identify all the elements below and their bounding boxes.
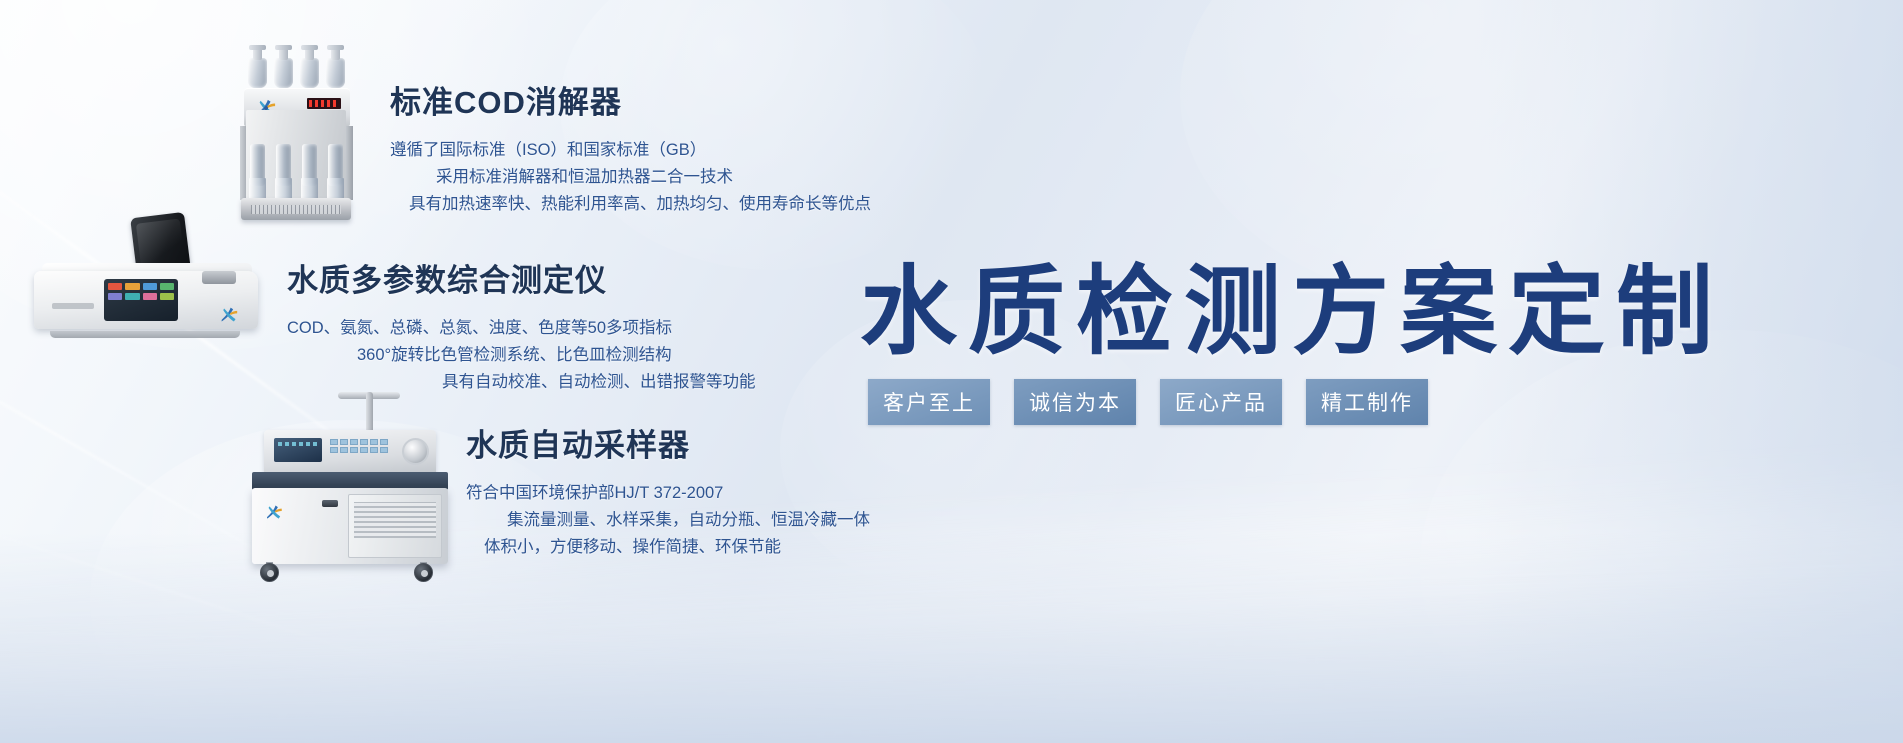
product-title: 标准COD消解器 (390, 77, 871, 122)
condenser-flask (274, 58, 293, 88)
status-badge[interactable]: 客户至上 (868, 379, 990, 425)
printer-slot (52, 303, 94, 309)
product-feature-line: COD、氨氮、总磷、总氮、浊度、色度等50多项指标 (287, 315, 756, 342)
product-feature-line: 采用标准消解器和恒温加热器二合一技术 (390, 164, 871, 191)
sampler-control-head (264, 430, 436, 476)
door-handle (322, 500, 338, 507)
product-title: 水质多参数综合测定仪 (287, 255, 756, 300)
brand-logo-icon (264, 504, 284, 521)
multi-parameter-analyzer-photo (26, 215, 266, 340)
products-column: 标准COD消解器 遵循了国际标准（ISO）和国家标准（GB） 采用标准消解器和恒… (0, 0, 900, 743)
product-title: 水质自动采样器 (466, 420, 870, 465)
product-features: 符合中国环境保护部HJ/T 372-2007 集流量测量、水样采集，自动分瓶、恒… (466, 480, 870, 561)
condenser-flask (248, 58, 267, 88)
led-display (307, 98, 341, 109)
page-title: 水质检测方案定制 (860, 232, 1870, 373)
auto-water-sampler-photo (246, 392, 458, 582)
caster-wheel (414, 563, 433, 582)
status-badge[interactable]: 精工制作 (1306, 379, 1428, 425)
product-block-auto-water-sampler: 水质自动采样器 符合中国环境保护部HJ/T 372-2007 集流量测量、水样采… (466, 420, 870, 561)
cuvette-well (202, 271, 236, 284)
product-feature-line: 遵循了国际标准（ISO）和国家标准（GB） (390, 137, 871, 164)
product-block-multi-parameter-analyzer: 水质多参数综合测定仪 COD、氨氮、总磷、总氮、浊度、色度等50多项指标 360… (287, 255, 756, 396)
status-badge-label: 精工制作 (1321, 387, 1413, 417)
product-feature-line: 360°旋转比色管检测系统、比色皿检测结构 (287, 342, 756, 369)
cod-digester-photo (232, 44, 362, 219)
product-feature-line: 具有加热速率快、热能利用率高、加热均匀、使用寿命长等优点 (390, 191, 871, 218)
water-quality-promo-banner: 标准COD消解器 遵循了国际标准（ISO）和国家标准（GB） 采用标准消解器和恒… (0, 0, 1903, 743)
headline-column: 水质检测方案定制 客户至上 诚信为本 匠心产品 精工制作 (840, 0, 1903, 743)
caster-wheel (260, 563, 279, 582)
value-badge-group: 客户至上 诚信为本 匠心产品 精工制作 (868, 379, 1428, 425)
condenser-flask (326, 58, 345, 88)
status-badge[interactable]: 诚信为本 (1014, 379, 1136, 425)
status-badge-label: 匠心产品 (1175, 387, 1267, 417)
sampler-display (274, 438, 322, 462)
condenser-flask (300, 58, 319, 88)
peristaltic-pump-icon (402, 438, 429, 465)
keypad (330, 439, 388, 453)
product-features: COD、氨氮、总磷、总氮、浊度、色度等50多项指标 360°旋转比色管检测系统、… (287, 315, 756, 396)
product-block-cod-digester: 标准COD消解器 遵循了国际标准（ISO）和国家标准（GB） 采用标准消解器和恒… (390, 77, 871, 218)
cooling-grille (354, 502, 436, 538)
product-feature-line: 体积小，方便移动、操作简捷、环保节能 (466, 534, 870, 561)
product-feature-line: 集流量测量、水样采集，自动分瓶、恒温冷藏一体 (466, 507, 870, 534)
status-badge-label: 诚信为本 (1029, 387, 1121, 417)
sampler-refrigerated-cabinet (252, 488, 448, 564)
status-badge[interactable]: 匠心产品 (1160, 379, 1282, 425)
brand-logo-icon (218, 306, 240, 324)
status-badge-label: 客户至上 (883, 387, 975, 417)
analyzer-base (50, 331, 240, 338)
analyzer-touchscreen (104, 279, 178, 321)
product-feature-line: 符合中国环境保护部HJ/T 372-2007 (466, 480, 870, 507)
product-features: 遵循了国际标准（ISO）和国家标准（GB） 采用标准消解器和恒温加热器二合一技术… (390, 137, 871, 218)
